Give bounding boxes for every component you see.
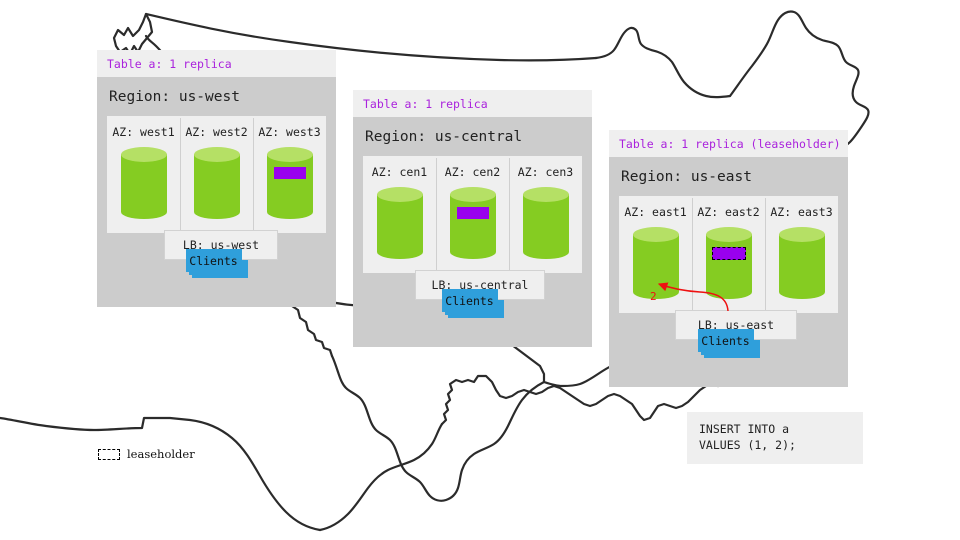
node-cylinder-east3[interactable] xyxy=(779,227,825,299)
region-header-us-east: Table a: 1 replica (leaseholder) xyxy=(609,130,848,157)
az-cell-cen2[interactable]: AZ: cen2 xyxy=(436,156,509,273)
node-cylinder-cen3[interactable] xyxy=(523,187,569,259)
cylinder-top xyxy=(267,147,313,162)
replica-band-west3 xyxy=(274,167,306,179)
az-cell-cen1[interactable]: AZ: cen1 xyxy=(363,156,436,273)
node-cylinder-east1[interactable] xyxy=(633,227,679,299)
region-header-us-west: Table a: 1 replica xyxy=(97,50,336,77)
cylinder-body xyxy=(450,194,496,252)
region-title-us-west: Region: us-west xyxy=(97,77,336,116)
cylinder-body xyxy=(121,154,167,212)
node-cylinder-east2[interactable] xyxy=(706,227,752,299)
sql-text: INSERT INTO a VALUES (1, 2); xyxy=(699,422,796,452)
az-cell-west1[interactable]: AZ: west1 xyxy=(107,116,180,233)
clients-card-front[interactable]: Clients xyxy=(442,289,498,312)
clients-button-us-central[interactable]: Clients xyxy=(442,289,504,319)
cylinder-body xyxy=(633,234,679,292)
az-label-east3: AZ: east3 xyxy=(765,205,838,219)
az-label-cen3: AZ: cen3 xyxy=(509,165,582,179)
cylinder-body xyxy=(523,194,569,252)
region-header-us-central: Table a: 1 replica xyxy=(353,90,592,117)
region-panel-us-west: Table a: 1 replica Region: us-west AZ: w… xyxy=(97,50,336,307)
cylinder-body xyxy=(706,234,752,292)
cylinder-top xyxy=(450,187,496,202)
node-cylinder-west1[interactable] xyxy=(121,147,167,219)
az-cell-east2[interactable]: AZ: east2 xyxy=(692,196,765,313)
clients-button-us-east[interactable]: Clients xyxy=(698,329,760,359)
az-label-west2: AZ: west2 xyxy=(180,125,253,139)
cylinder-top xyxy=(706,227,752,242)
az-cell-west3[interactable]: AZ: west3 xyxy=(253,116,326,233)
dashed-rectangle-icon xyxy=(98,449,120,460)
cylinder-top xyxy=(194,147,240,162)
region-panel-us-central: Table a: 1 replica Region: us-central AZ… xyxy=(353,90,592,347)
cylinder-top xyxy=(633,227,679,242)
az-cell-cen3[interactable]: AZ: cen3 xyxy=(509,156,582,273)
clients-card-front[interactable]: Clients xyxy=(186,249,242,272)
az-label-west3: AZ: west3 xyxy=(253,125,326,139)
region-body-us-west: Region: us-west AZ: west1 AZ: west2 xyxy=(97,77,336,307)
az-strip-us-west: AZ: west1 AZ: west2 AZ xyxy=(107,116,326,233)
node-cylinder-west3[interactable] xyxy=(267,147,313,219)
replica-band-leaseholder-east2 xyxy=(712,247,746,260)
region-title-us-east: Region: us-east xyxy=(609,157,848,196)
az-label-east2: AZ: east2 xyxy=(692,205,765,219)
clients-button-us-west[interactable]: Clients xyxy=(186,249,248,279)
region-body-us-east: Region: us-east AZ: east1 AZ: east2 xyxy=(609,157,848,387)
az-cell-east3[interactable]: AZ: east3 xyxy=(765,196,838,313)
sql-statement-box: INSERT INTO a VALUES (1, 2); xyxy=(687,412,863,464)
region-body-us-central: Region: us-central AZ: cen1 AZ: cen2 xyxy=(353,117,592,347)
cylinder-top xyxy=(523,187,569,202)
node-cylinder-west2[interactable] xyxy=(194,147,240,219)
az-cell-west2[interactable]: AZ: west2 xyxy=(180,116,253,233)
node-cylinder-cen1[interactable] xyxy=(377,187,423,259)
cylinder-body xyxy=(779,234,825,292)
replica-band-cen2 xyxy=(457,207,489,219)
cylinder-body xyxy=(194,154,240,212)
cylinder-body xyxy=(267,154,313,212)
legend: leaseholder xyxy=(98,447,195,461)
cylinder-top xyxy=(121,147,167,162)
cylinder-top xyxy=(779,227,825,242)
legend-label: leaseholder xyxy=(127,447,195,461)
node-cylinder-cen2[interactable] xyxy=(450,187,496,259)
az-label-cen2: AZ: cen2 xyxy=(436,165,509,179)
region-title-us-central: Region: us-central xyxy=(353,117,592,156)
clients-card-front[interactable]: Clients xyxy=(698,329,754,352)
az-label-west1: AZ: west1 xyxy=(107,125,180,139)
cylinder-top xyxy=(377,187,423,202)
region-panel-us-east: Table a: 1 replica (leaseholder) Region:… xyxy=(609,130,848,387)
az-label-east1: AZ: east1 xyxy=(619,205,692,219)
arrow-step-number: 2 xyxy=(650,290,657,303)
diagram-canvas: Table a: 1 replica Region: us-west AZ: w… xyxy=(0,0,960,540)
az-label-cen1: AZ: cen1 xyxy=(363,165,436,179)
az-strip-us-central: AZ: cen1 AZ: cen2 xyxy=(363,156,582,273)
cylinder-body xyxy=(377,194,423,252)
